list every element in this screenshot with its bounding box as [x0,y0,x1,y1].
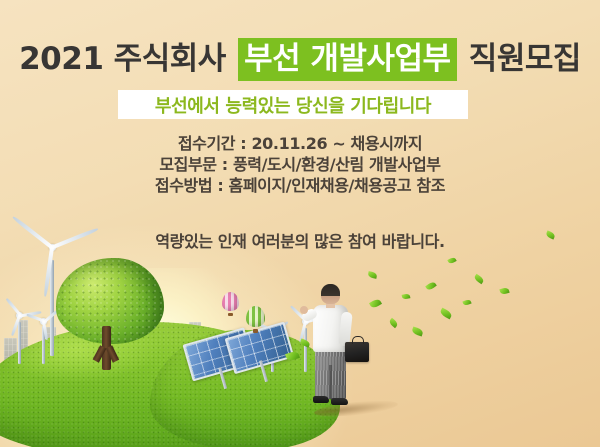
banner-subtitle: 부선에서 능력있는 당신을 기다립니다 [155,92,431,118]
leaf-icon [462,299,471,307]
businessman-figure [300,284,362,412]
leaf-icon [402,293,411,300]
banner-title: 2021 주식회사 부선 개발사업부 직원모집 [0,42,600,77]
leaf-icon [411,326,424,336]
leaf-icon [367,271,377,279]
title-prefix: 2021 주식회사 [19,41,226,77]
leaf-icon [369,298,382,310]
detail-line-method: 접수방법 : 홈페이지/인재채용/채용공고 참조 [0,175,600,196]
hot-air-balloon-icon [246,306,265,333]
detail-line-period: 접수기간 : 20.11.26 ~ 채용시까지 [0,133,600,154]
title-highlight: 부선 개발사업부 [238,38,456,81]
leaf-icon [425,281,437,292]
detail-line-department: 모집부문 : 풍력/도시/환경/산림 개발사업부 [0,154,600,175]
briefcase-icon [345,342,369,362]
hot-air-balloon-icon [222,292,239,316]
footer-message: 역량있는 인재 여러분의 많은 참여 바랍니다. [0,228,600,252]
leaf-icon [388,318,399,328]
title-suffix: 직원모집 [469,41,581,77]
recruitment-banner: 2021 주식회사 부선 개발사업부 직원모집 부선에서 능력있는 당신을 기다… [0,0,600,447]
details-block: 접수기간 : 20.11.26 ~ 채용시까지 모집부문 : 풍력/도시/환경/… [0,133,600,196]
leaf-icon [447,256,456,264]
tree-icon [52,258,168,370]
leaf-icon [499,287,509,295]
leaf-icon [473,274,485,285]
subtitle-strip: 부선에서 능력있는 당신을 기다립니다 [118,90,468,119]
leaf-icon [439,308,453,320]
